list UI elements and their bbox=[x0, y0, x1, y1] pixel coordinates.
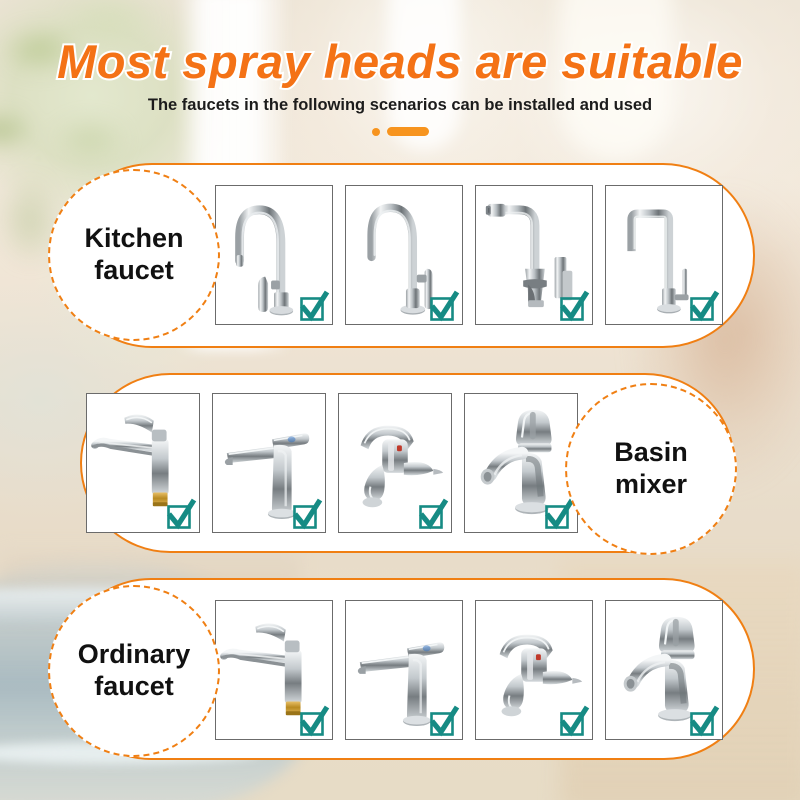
divider-bar-icon bbox=[387, 127, 429, 136]
check-badge-icon bbox=[415, 496, 449, 530]
check-badge-icon bbox=[296, 288, 330, 322]
faucet-strip-basin-mixer bbox=[86, 393, 578, 533]
check-badge-icon bbox=[289, 496, 323, 530]
faucet-card-single-cold-pillar-tap[interactable] bbox=[464, 393, 578, 533]
check-badge-icon bbox=[686, 703, 720, 737]
check-badge-icon bbox=[426, 288, 460, 322]
category-label-kitchen-faucet: Kitchen faucet bbox=[48, 169, 220, 341]
faucet-strip-ordinary-faucet bbox=[215, 600, 723, 740]
check-badge-icon bbox=[426, 703, 460, 737]
category-label-text: Kitchen faucet bbox=[84, 223, 183, 287]
faucet-card-square-l-shaped[interactable] bbox=[605, 185, 723, 325]
faucet-card-single-cold-pillar-tap[interactable] bbox=[605, 600, 723, 740]
header: Most spray heads are suitable The faucet… bbox=[0, 0, 800, 136]
check-badge-icon bbox=[296, 703, 330, 737]
faucet-card-long-lever-basin-mixer[interactable] bbox=[215, 600, 333, 740]
category-label-basin-mixer: Basin mixer bbox=[565, 383, 737, 555]
faucet-card-wall-mounted-bath-shower-mixer[interactable] bbox=[338, 393, 452, 533]
faucet-card-pull-out-spray[interactable] bbox=[475, 185, 593, 325]
category-label-text: Ordinary faucet bbox=[78, 639, 191, 703]
divider-dot-icon bbox=[372, 128, 380, 136]
category-label-text: Basin mixer bbox=[614, 437, 688, 501]
faucet-card-long-lever-basin-mixer[interactable] bbox=[86, 393, 200, 533]
page-subtitle: The faucets in the following scenarios c… bbox=[0, 89, 800, 115]
check-badge-icon bbox=[686, 288, 720, 322]
infographic-page: Most spray heads are suitable The faucet… bbox=[0, 0, 800, 800]
check-badge-icon bbox=[556, 288, 590, 322]
faucet-card-tall-single-hole-basin-mixer[interactable] bbox=[345, 600, 463, 740]
page-title: Most spray heads are suitable bbox=[0, 0, 800, 89]
category-label-ordinary-faucet: Ordinary faucet bbox=[48, 585, 220, 757]
faucet-card-wall-mounted-bath-shower-mixer[interactable] bbox=[475, 600, 593, 740]
check-badge-icon bbox=[556, 703, 590, 737]
faucet-card-gooseneck-single-lever[interactable] bbox=[345, 185, 463, 325]
faucet-strip-kitchen-faucet bbox=[215, 185, 723, 325]
check-badge-icon bbox=[163, 496, 197, 530]
divider bbox=[0, 115, 800, 136]
check-badge-icon bbox=[541, 496, 575, 530]
faucet-card-tall-single-hole-basin-mixer[interactable] bbox=[212, 393, 326, 533]
faucet-card-gooseneck-pulldown[interactable] bbox=[215, 185, 333, 325]
